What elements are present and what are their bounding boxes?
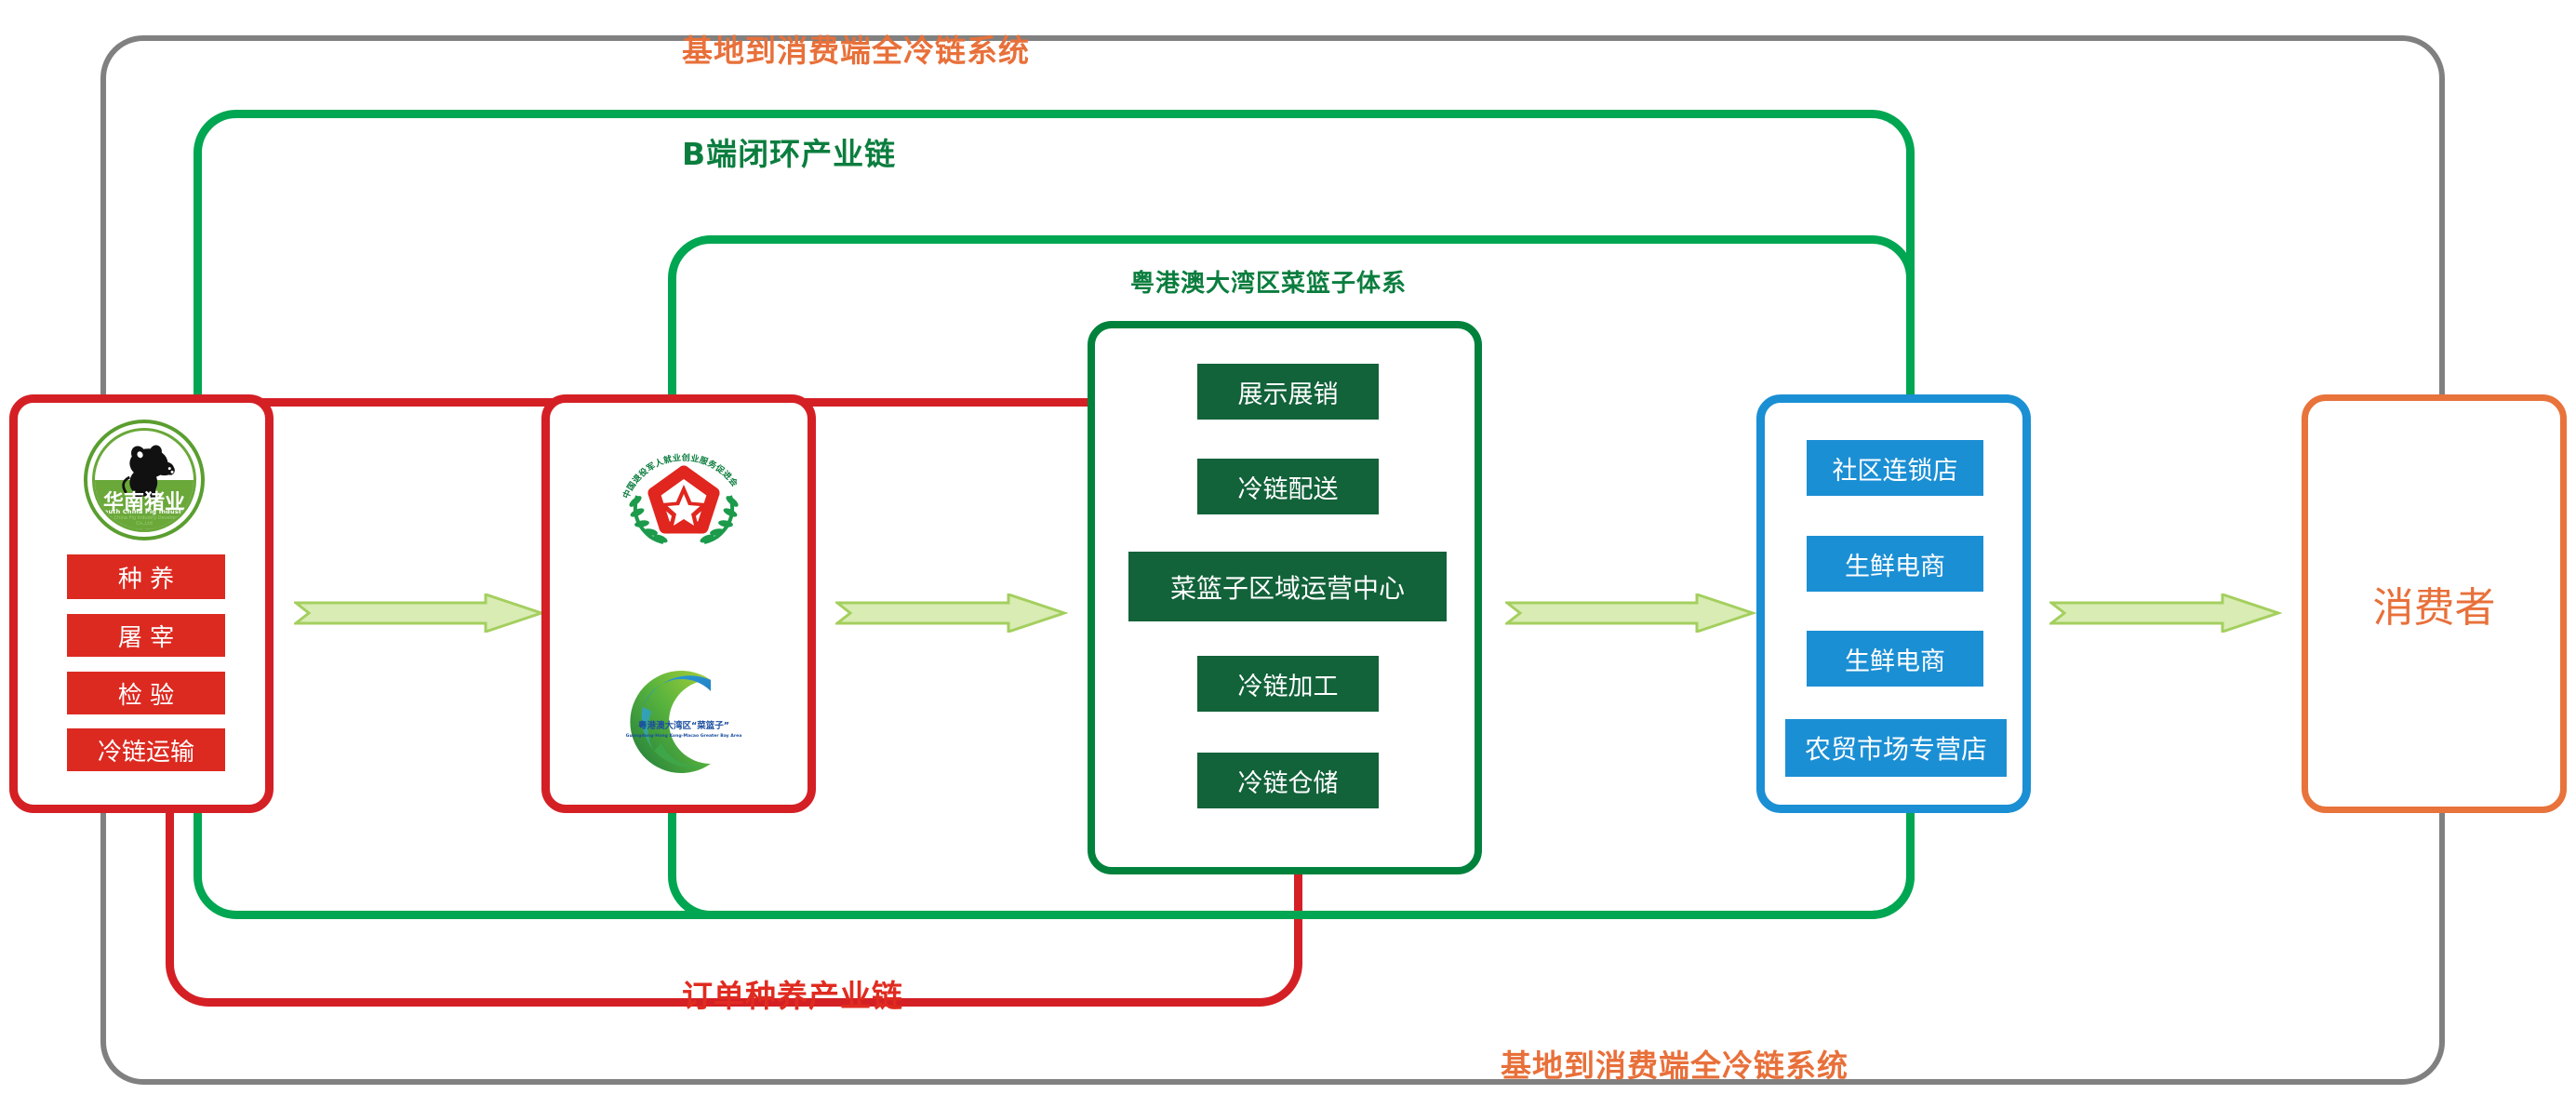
production-step-label: 屠 宰 (118, 619, 174, 653)
consumer-panel[interactable]: 消费者 (2302, 394, 2567, 813)
basket-item-1[interactable]: 冷链配送 (1197, 459, 1379, 514)
retail-item-label: 农贸市场专营店 (1805, 729, 1987, 767)
production-step-2[interactable]: 检 验 (67, 672, 225, 714)
basket-item-4[interactable]: 冷链仓储 (1197, 753, 1379, 808)
south-china-pig-industry-logo: 华南猪业 South China Pig Industry South Chin… (84, 420, 205, 540)
label-order-farming-chain: 订单种养产业链 (682, 971, 903, 1016)
retail-panel[interactable]: 社区连锁店 生鲜电商 生鲜电商 农贸市场专营店 (1756, 394, 2031, 813)
basket-operation-panel[interactable]: 展示展销 冷链配送 菜篮子区域运营中心 冷链加工 冷链仓储 (1088, 321, 1482, 874)
production-step-label: 检 验 (118, 676, 174, 711)
arrow-basket-to-retail (1505, 594, 1756, 633)
retail-item-3[interactable]: 农贸市场专营店 (1785, 719, 2007, 777)
arrow-certification-to-basket (835, 594, 1068, 633)
label-basket-system-title: 粤港澳大湾区菜篮子体系 (1130, 264, 1407, 299)
label-b-end-closed-loop: B端闭环产业链 (682, 129, 896, 174)
basket-item-label: 菜篮子区域运营中心 (1170, 568, 1405, 606)
retail-item-2[interactable]: 生鲜电商 (1807, 631, 1983, 687)
production-step-3[interactable]: 冷链运输 (67, 728, 225, 771)
consumer-label: 消费者 (2308, 401, 2560, 807)
retail-item-label: 生鲜电商 (1845, 641, 1945, 677)
basket-item-label: 冷链加工 (1238, 666, 1339, 702)
production-step-1[interactable]: 屠 宰 (67, 614, 225, 657)
production-step-0[interactable]: 种 养 (67, 554, 225, 599)
logo-name-en-arc: South China Pig Industry Development Co.… (95, 515, 194, 527)
certification-panel[interactable]: 中国退役军人就业创业服务促进会 (541, 394, 816, 813)
production-panel[interactable]: 华南猪业 South China Pig Industry South Chin… (9, 394, 274, 813)
svg-text:粤港澳大湾区“菜篮子”: 粤港澳大湾区“菜篮子” (638, 720, 729, 731)
arrow-retail-to-consumer (2049, 594, 2282, 633)
retail-item-1[interactable]: 生鲜电商 (1807, 536, 1983, 592)
basket-item-label: 展示展销 (1238, 374, 1339, 410)
production-step-label: 冷链运输 (98, 733, 194, 767)
label-cold-chain-system-bottom: 基地到消费端全冷链系统 (1501, 1041, 1849, 1086)
veterans-association-emblem: 中国退役军人就业创业服务促进会 (609, 427, 758, 557)
basket-item-3[interactable]: 冷链加工 (1197, 656, 1379, 712)
label-cold-chain-system-top: 基地到消费端全冷链系统 (682, 26, 1030, 71)
basket-item-2[interactable]: 菜篮子区域运营中心 (1128, 552, 1447, 621)
svg-text:Guangdong-Hong Kong-Macao Grea: Guangdong-Hong Kong-Macao Greater Bay Ar… (626, 733, 742, 739)
greater-bay-area-basket-emblem: 粤港澳大湾区“菜篮子” Guangdong-Hong Kong-Macao Gr… (622, 665, 745, 779)
diagram-canvas: 基地到消费端全冷链系统 基地到消费端全冷链系统 B端闭环产业链 订单种养产业链 … (0, 0, 2576, 1094)
retail-item-label: 社区连锁店 (1833, 450, 1958, 487)
retail-item-0[interactable]: 社区连锁店 (1807, 440, 1983, 496)
basket-item-label: 冷链仓储 (1238, 763, 1339, 799)
retail-item-label: 生鲜电商 (1845, 546, 1945, 582)
basket-item-0[interactable]: 展示展销 (1197, 364, 1379, 420)
logo-name-en: South China Pig Industry (95, 508, 194, 515)
arrow-production-to-certification (294, 594, 545, 633)
basket-item-label: 冷链配送 (1238, 469, 1339, 505)
production-step-label: 种 养 (118, 560, 174, 594)
